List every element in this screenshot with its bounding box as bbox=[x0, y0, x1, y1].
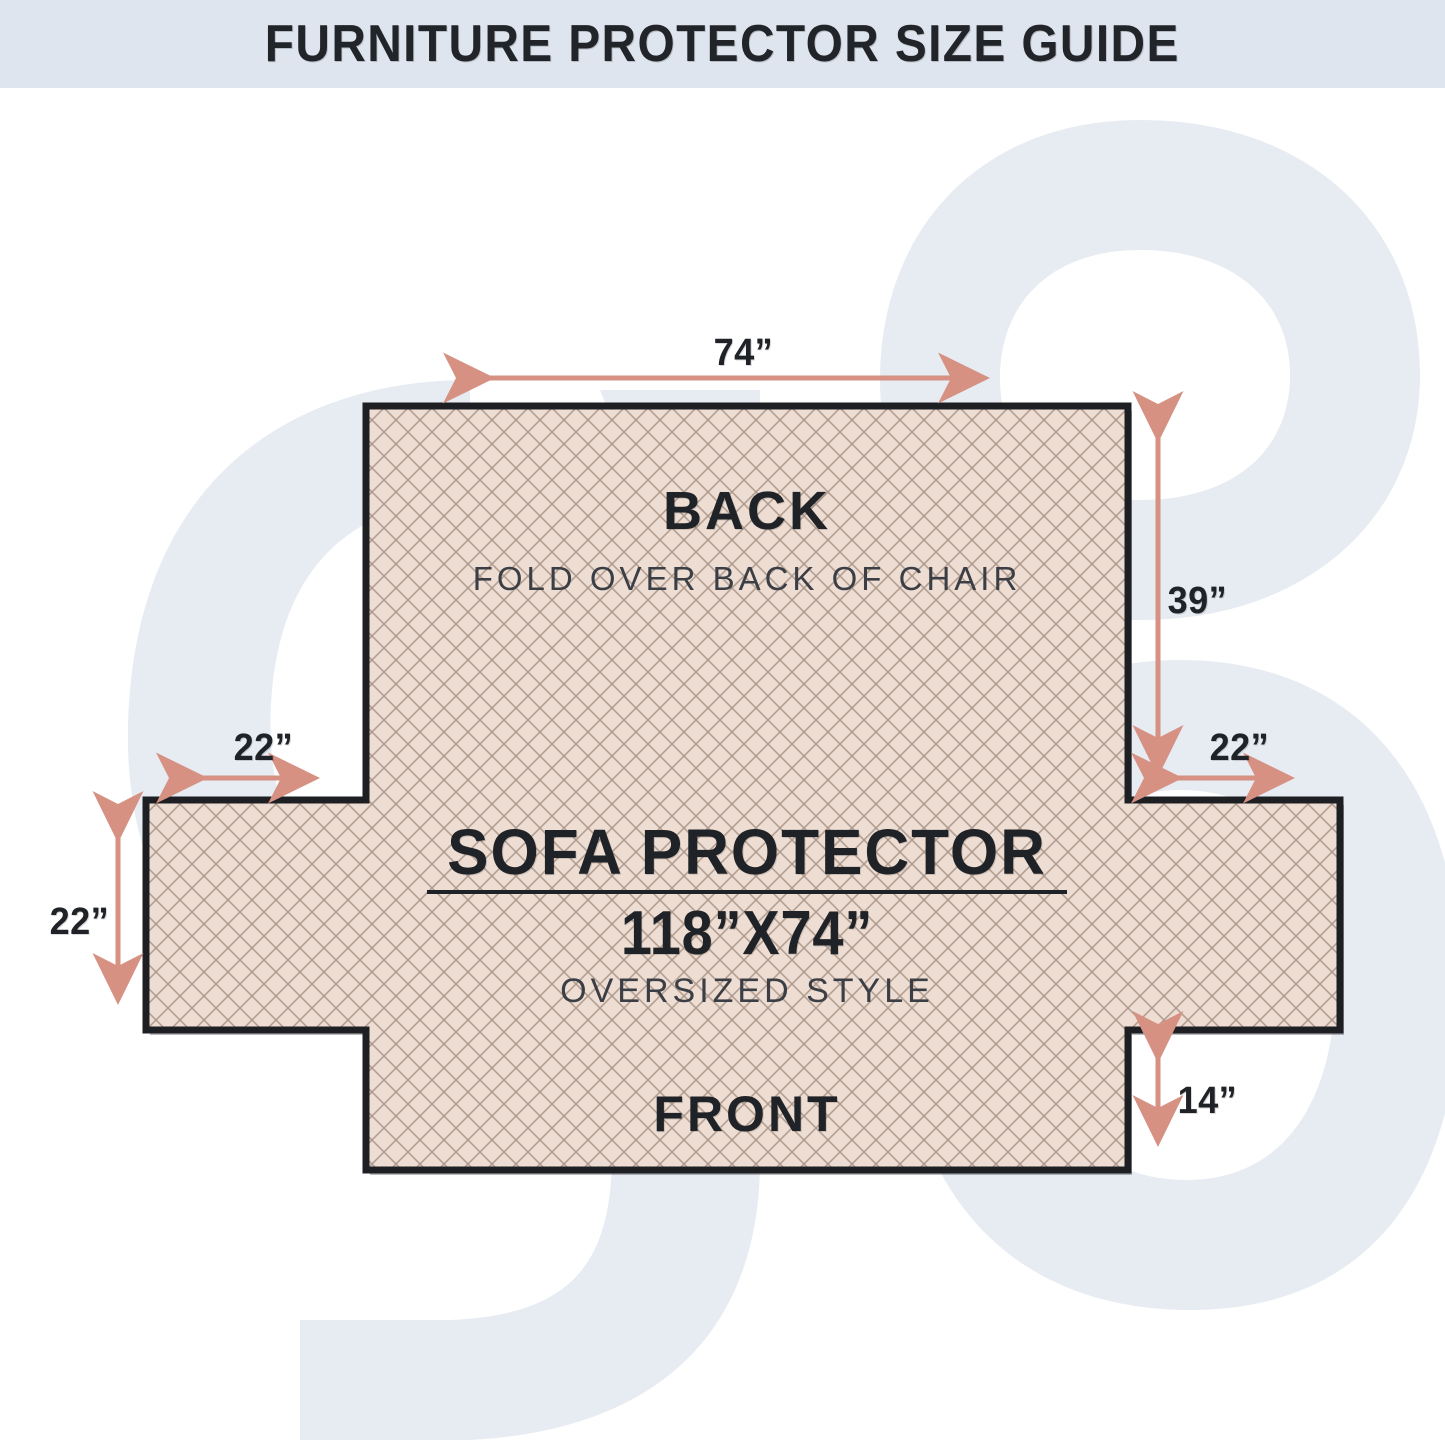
product-style: OVERSIZED STYLE bbox=[560, 972, 934, 1011]
dim-label-front-skirt-height: 14” bbox=[1178, 1080, 1238, 1123]
product-dimensions: 118”X74” bbox=[621, 898, 873, 969]
dim-label-back-height: 39” bbox=[1168, 580, 1228, 623]
dim-label-right-arm-width: 22” bbox=[1210, 727, 1270, 770]
size-guide-canvas: FURNITURE PROTECTOR SIZE GUIDE bbox=[0, 0, 1445, 1445]
back-panel-heading: BACK bbox=[663, 480, 831, 542]
back-panel-subheading: FOLD OVER BACK OF CHAIR bbox=[473, 560, 1022, 598]
product-name: SOFA PROTECTOR bbox=[447, 815, 1047, 889]
product-name-rule bbox=[427, 890, 1067, 894]
dim-label-arm-height: 22” bbox=[50, 901, 110, 944]
protector-diagram bbox=[0, 0, 1445, 1445]
front-panel-heading: FRONT bbox=[653, 1085, 840, 1143]
dim-label-top-width: 74” bbox=[714, 332, 774, 375]
dim-label-left-arm-width: 22” bbox=[234, 727, 294, 770]
